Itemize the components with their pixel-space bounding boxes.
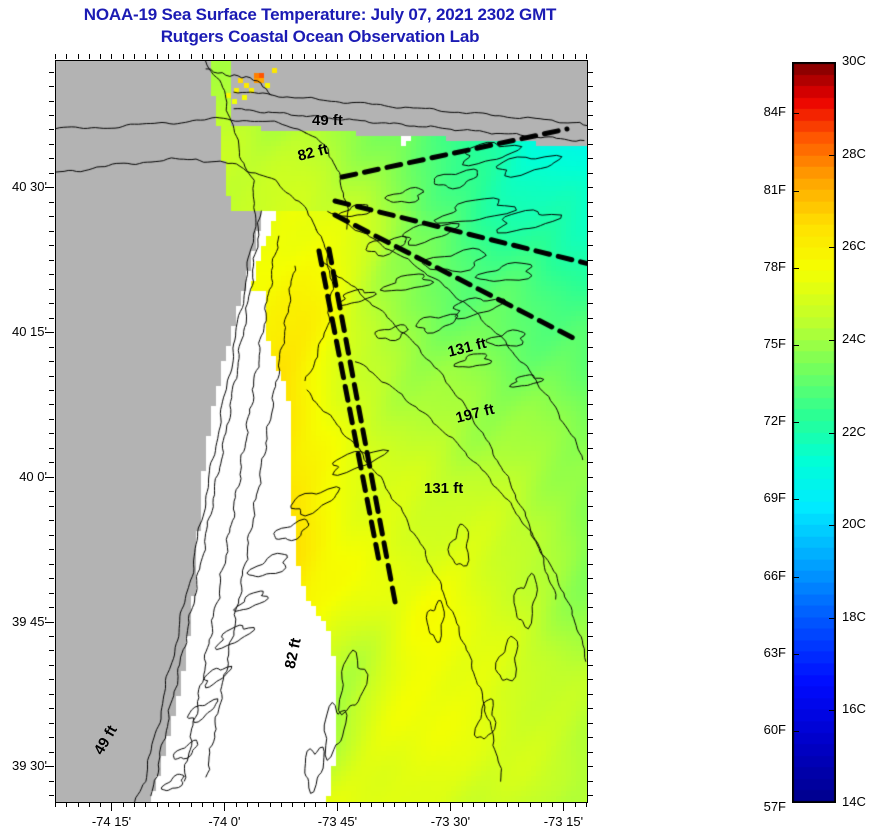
x-minor-tick: [168, 54, 169, 59]
y-minor-tick: [49, 231, 54, 232]
y-minor-tick: [49, 549, 54, 550]
y-minor-tick: [49, 781, 54, 782]
y-minor-tick: [588, 376, 593, 377]
y-minor-tick: [49, 520, 54, 521]
x-minor-tick: [394, 54, 395, 59]
x-minor-tick: [78, 54, 79, 59]
y-minor-tick: [588, 737, 593, 738]
colorbar-tick-f-78: 78F: [764, 259, 786, 274]
x-minor-tick: [496, 54, 497, 59]
x-minor-tick: [417, 802, 418, 807]
x-major-tick: [563, 802, 564, 811]
x-minor-tick: [270, 54, 271, 59]
colorbar-fahrenheit-labels: 84F81F78F75F72F69F66F63F60F57F: [792, 62, 836, 803]
y-minor-tick: [49, 86, 54, 87]
y-minor-tick: [588, 578, 593, 579]
x-minor-tick: [405, 54, 406, 59]
x-minor-tick: [179, 54, 180, 59]
y-minor-tick: [588, 202, 593, 203]
y-minor-tick: [588, 245, 593, 246]
y-minor-tick: [49, 448, 54, 449]
colorbar-tick-f-66: 66F: [764, 568, 786, 583]
colorbar-tick-c-28: 28C: [842, 146, 866, 161]
y-minor-tick: [49, 419, 54, 420]
x-major-tick: [224, 802, 225, 811]
colorbar-tick-c-18: 18C: [842, 609, 866, 624]
y-minor-tick: [49, 115, 54, 116]
y-minor-tick: [49, 593, 54, 594]
x-minor-tick: [462, 802, 463, 807]
y-minor-tick: [49, 216, 54, 217]
x-major-tick: [111, 802, 112, 811]
x-major-tick: [337, 802, 338, 811]
y-minor-tick: [588, 303, 593, 304]
y-minor-tick: [49, 708, 54, 709]
colorbar-tick-f-81: 81F: [764, 182, 786, 197]
y-minor-tick: [49, 795, 54, 796]
y-minor-tick: [49, 303, 54, 304]
y-minor-tick: [588, 795, 593, 796]
x-minor-tick: [383, 802, 384, 807]
x-minor-tick: [394, 802, 395, 807]
y-axis-label-1: 40 15': [0, 324, 47, 339]
y-minor-tick: [588, 260, 593, 261]
x-minor-tick: [134, 802, 135, 807]
y-minor-tick: [588, 115, 593, 116]
x-minor-tick: [145, 54, 146, 59]
colorbar-tick-c-14: 14C: [842, 794, 866, 809]
y-minor-tick: [588, 593, 593, 594]
x-minor-tick: [530, 802, 531, 807]
y-minor-tick: [588, 752, 593, 753]
x-minor-tick: [145, 802, 146, 807]
x-minor-tick: [518, 802, 519, 807]
y-minor-tick: [588, 274, 593, 275]
y-minor-tick: [49, 650, 54, 651]
x-minor-tick: [66, 54, 67, 59]
x-minor-tick: [66, 802, 67, 807]
colorbar-tickmark-f-66: [793, 577, 799, 578]
y-axis-label-4: 39 30': [0, 758, 47, 773]
x-minor-tick: [304, 802, 305, 807]
y-minor-tick: [49, 433, 54, 434]
x-major-tick: [450, 802, 451, 811]
x-minor-tick: [168, 802, 169, 807]
x-minor-tick: [78, 802, 79, 807]
y-minor-tick: [588, 390, 593, 391]
x-minor-tick: [450, 54, 451, 59]
y-minor-tick: [588, 665, 593, 666]
x-minor-tick: [213, 54, 214, 59]
x-axis-label-1: -74 0': [174, 814, 274, 829]
colorbar-tick-c-22: 22C: [842, 424, 866, 439]
title-line-2: Rutgers Coastal Ocean Observation Lab: [0, 26, 640, 48]
y-minor-tick: [588, 361, 593, 362]
colorbar[interactable]: 30C28C26C24C22C20C18C16C14C 84F81F78F75F…: [792, 62, 836, 803]
x-minor-tick: [202, 54, 203, 59]
y-minor-tick: [49, 737, 54, 738]
x-minor-tick: [349, 802, 350, 807]
colorbar-tickmark-f-63: [793, 654, 799, 655]
x-minor-tick: [337, 54, 338, 59]
y-minor-tick: [49, 260, 54, 261]
x-minor-tick: [100, 54, 101, 59]
y-minor-tick: [588, 332, 593, 333]
y-minor-tick: [588, 520, 593, 521]
x-minor-tick: [541, 54, 542, 59]
x-minor-tick: [428, 54, 429, 59]
y-minor-tick: [49, 723, 54, 724]
y-minor-tick: [49, 535, 54, 536]
y-minor-tick: [49, 72, 54, 73]
y-minor-tick: [49, 376, 54, 377]
x-minor-tick: [439, 54, 440, 59]
x-minor-tick: [123, 54, 124, 59]
x-minor-tick: [134, 54, 135, 59]
y-minor-tick: [49, 679, 54, 680]
y-minor-tick: [49, 173, 54, 174]
x-minor-tick: [575, 802, 576, 807]
y-minor-tick: [588, 318, 593, 319]
y-minor-tick: [49, 636, 54, 637]
y-minor-tick: [49, 506, 54, 507]
y-minor-tick: [49, 665, 54, 666]
colorbar-tickmark-f-69: [793, 499, 799, 500]
x-axis-label-3: -73 30': [400, 814, 500, 829]
y-minor-tick: [588, 72, 593, 73]
x-minor-tick: [315, 54, 316, 59]
x-minor-tick: [405, 802, 406, 807]
y-minor-tick: [588, 564, 593, 565]
y-minor-tick: [49, 390, 54, 391]
x-minor-tick: [315, 802, 316, 807]
y-minor-tick: [49, 274, 54, 275]
y-minor-tick: [588, 231, 593, 232]
x-minor-tick: [191, 54, 192, 59]
x-minor-tick: [563, 54, 564, 59]
x-minor-tick: [191, 802, 192, 807]
y-minor-tick: [588, 347, 593, 348]
x-minor-tick: [157, 802, 158, 807]
colorbar-tickmark-f-60: [793, 731, 799, 732]
sst-map[interactable]: [55, 60, 588, 803]
title-line-1: NOAA-19 Sea Surface Temperature: July 07…: [0, 4, 640, 26]
x-minor-tick: [111, 54, 112, 59]
x-minor-tick: [202, 802, 203, 807]
x-minor-tick: [281, 54, 282, 59]
x-minor-tick: [55, 54, 56, 59]
colorbar-tickmark-f-81: [793, 191, 799, 192]
x-minor-tick: [258, 802, 259, 807]
y-minor-tick: [588, 433, 593, 434]
colorbar-tick-f-75: 75F: [764, 336, 786, 351]
x-minor-tick: [473, 802, 474, 807]
x-minor-tick: [360, 802, 361, 807]
x-minor-tick: [236, 54, 237, 59]
x-minor-tick: [530, 54, 531, 59]
y-minor-tick: [49, 694, 54, 695]
colorbar-tickmark-f-72: [793, 422, 799, 423]
x-minor-tick: [89, 54, 90, 59]
y-axis-label-0: 40 30': [0, 179, 47, 194]
y-axis-label-3: 39 45': [0, 614, 47, 629]
x-minor-tick: [484, 802, 485, 807]
y-minor-tick: [49, 462, 54, 463]
y-minor-tick: [588, 708, 593, 709]
y-minor-tick: [588, 216, 593, 217]
y-minor-tick: [588, 101, 593, 102]
y-minor-tick: [49, 752, 54, 753]
y-minor-tick: [588, 419, 593, 420]
y-minor-tick: [588, 781, 593, 782]
y-minor-tick: [49, 491, 54, 492]
x-minor-tick: [371, 802, 372, 807]
x-minor-tick: [236, 802, 237, 807]
x-axis-label-4: -73 15': [513, 814, 613, 829]
y-minor-tick: [588, 477, 593, 478]
y-minor-tick: [49, 245, 54, 246]
colorbar-tickmark-f-84: [793, 113, 799, 114]
page-title: NOAA-19 Sea Surface Temperature: July 07…: [0, 4, 640, 48]
y-minor-tick: [49, 144, 54, 145]
coastline-overlay-canvas: [56, 61, 587, 802]
x-minor-tick: [247, 802, 248, 807]
x-axis-label-2: -73 45': [287, 814, 387, 829]
y-minor-tick: [588, 679, 593, 680]
y-minor-tick: [49, 578, 54, 579]
x-minor-tick: [292, 54, 293, 59]
y-minor-tick: [588, 506, 593, 507]
x-minor-tick: [247, 54, 248, 59]
y-minor-tick: [49, 318, 54, 319]
y-minor-tick: [49, 289, 54, 290]
colorbar-tick-c-26: 26C: [842, 238, 866, 253]
colorbar-tick-c-20: 20C: [842, 516, 866, 531]
x-minor-tick: [371, 54, 372, 59]
x-minor-tick: [213, 802, 214, 807]
colorbar-tick-f-84: 84F: [764, 104, 786, 119]
depth-label-4: 131 ft: [424, 480, 463, 497]
x-minor-tick: [439, 802, 440, 807]
colorbar-tick-c-16: 16C: [842, 701, 866, 716]
x-minor-tick: [552, 802, 553, 807]
x-minor-tick: [586, 802, 587, 807]
y-minor-tick: [588, 491, 593, 492]
y-minor-tick: [588, 86, 593, 87]
y-minor-tick: [588, 650, 593, 651]
y-minor-tick: [588, 158, 593, 159]
y-minor-tick: [588, 129, 593, 130]
y-minor-tick: [49, 564, 54, 565]
y-minor-tick: [49, 158, 54, 159]
y-minor-tick: [588, 404, 593, 405]
y-minor-tick: [49, 361, 54, 362]
x-minor-tick: [55, 802, 56, 807]
colorbar-tick-c-24: 24C: [842, 331, 866, 346]
x-axis-label-0: -74 15': [61, 814, 161, 829]
x-minor-tick: [518, 54, 519, 59]
x-minor-tick: [224, 54, 225, 59]
y-minor-tick: [588, 766, 593, 767]
depth-label-0: 49 ft: [312, 112, 343, 129]
x-minor-tick: [417, 54, 418, 59]
colorbar-tick-f-57: 57F: [764, 799, 786, 814]
y-minor-tick: [588, 723, 593, 724]
y-minor-tick: [588, 622, 593, 623]
y-minor-tick: [49, 347, 54, 348]
y-minor-tick: [588, 535, 593, 536]
x-minor-tick: [100, 802, 101, 807]
x-minor-tick: [552, 54, 553, 59]
x-minor-tick: [360, 54, 361, 59]
y-minor-tick: [588, 462, 593, 463]
y-minor-tick: [588, 187, 593, 188]
x-minor-tick: [484, 54, 485, 59]
x-minor-tick: [575, 54, 576, 59]
colorbar-tickmark-f-75: [793, 345, 799, 346]
y-minor-tick: [588, 289, 593, 290]
x-minor-tick: [304, 54, 305, 59]
y-axis-label-2: 40 0': [0, 469, 47, 484]
colorbar-tick-f-72: 72F: [764, 413, 786, 428]
y-minor-tick: [588, 144, 593, 145]
x-minor-tick: [507, 54, 508, 59]
y-minor-tick: [588, 173, 593, 174]
x-minor-tick: [541, 802, 542, 807]
y-minor-tick: [49, 129, 54, 130]
x-minor-tick: [383, 54, 384, 59]
colorbar-tickmark-f-78: [793, 268, 799, 269]
x-minor-tick: [258, 54, 259, 59]
colorbar-tick-f-69: 69F: [764, 490, 786, 505]
y-minor-tick: [588, 694, 593, 695]
x-minor-tick: [586, 54, 587, 59]
x-minor-tick: [179, 802, 180, 807]
y-minor-tick: [49, 607, 54, 608]
x-minor-tick: [326, 54, 327, 59]
y-minor-tick: [49, 101, 54, 102]
y-minor-tick: [588, 607, 593, 608]
colorbar-tick-c-30: 30C: [842, 53, 866, 68]
x-minor-tick: [292, 802, 293, 807]
x-minor-tick: [89, 802, 90, 807]
x-minor-tick: [462, 54, 463, 59]
y-minor-tick: [49, 404, 54, 405]
x-minor-tick: [473, 54, 474, 59]
colorbar-tick-f-63: 63F: [764, 645, 786, 660]
y-minor-tick: [588, 549, 593, 550]
x-minor-tick: [281, 802, 282, 807]
x-minor-tick: [507, 802, 508, 807]
colorbar-tick-f-60: 60F: [764, 722, 786, 737]
x-minor-tick: [349, 54, 350, 59]
y-minor-tick: [588, 636, 593, 637]
x-minor-tick: [157, 54, 158, 59]
y-minor-tick: [49, 202, 54, 203]
x-minor-tick: [326, 802, 327, 807]
x-minor-tick: [428, 802, 429, 807]
x-minor-tick: [123, 802, 124, 807]
y-minor-tick: [588, 448, 593, 449]
x-minor-tick: [496, 802, 497, 807]
x-minor-tick: [270, 802, 271, 807]
